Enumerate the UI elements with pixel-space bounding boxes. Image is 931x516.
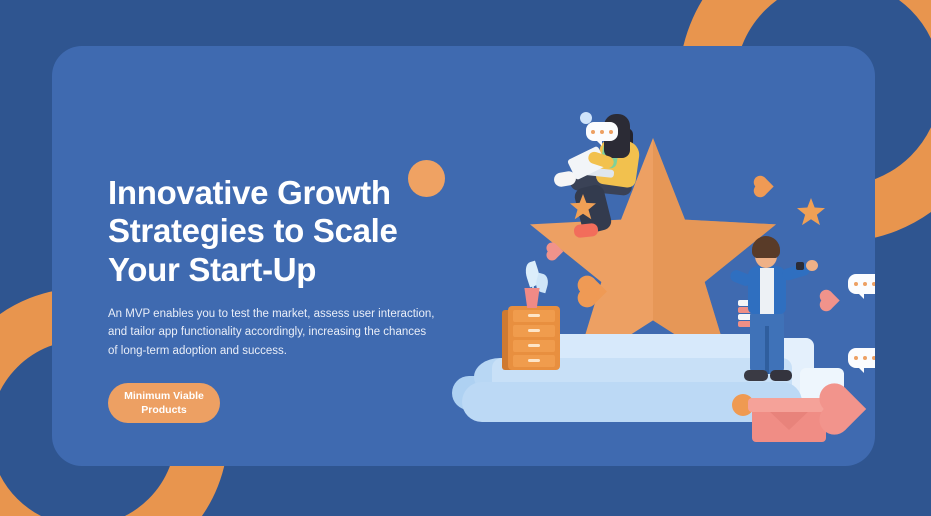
man-watch	[796, 262, 804, 270]
man-hair	[752, 236, 780, 258]
chat-bubble-icon	[586, 122, 618, 141]
page-title: Innovative Growth Strategies to Scale Yo…	[108, 174, 468, 289]
dresser-drawer	[513, 325, 555, 337]
dresser-drawer	[513, 355, 555, 367]
floating-heart-icon-large	[824, 388, 866, 430]
chat-bubble-icon	[848, 348, 875, 368]
man-shoe	[770, 370, 792, 381]
hero-body-text: An MVP enables you to test the market, a…	[108, 305, 438, 361]
mvp-cta-button[interactable]: Minimum Viable Products	[108, 383, 220, 423]
gift-box-lid	[748, 398, 830, 412]
man-tshirt	[760, 268, 774, 314]
hero-copy-block: Innovative Growth Strategies to Scale Yo…	[108, 174, 468, 423]
dresser-drawer	[513, 310, 555, 322]
plant-pot	[522, 288, 542, 308]
floating-heart-icon	[755, 177, 773, 195]
man-leg-split	[765, 326, 769, 374]
man-hand	[806, 260, 818, 271]
chat-bubble-small-icon	[580, 112, 592, 124]
floating-heart-icon	[821, 291, 839, 309]
dresser-drawer	[513, 340, 555, 352]
dresser	[508, 306, 560, 370]
man-shoe	[744, 370, 768, 381]
slide-canvas: Innovative Growth Strategies to Scale Yo…	[0, 0, 931, 516]
floating-star-icon	[797, 198, 825, 226]
hero-illustration	[452, 76, 872, 456]
chat-bubble-icon	[848, 274, 875, 294]
hero-card: Innovative Growth Strategies to Scale Yo…	[52, 46, 875, 466]
